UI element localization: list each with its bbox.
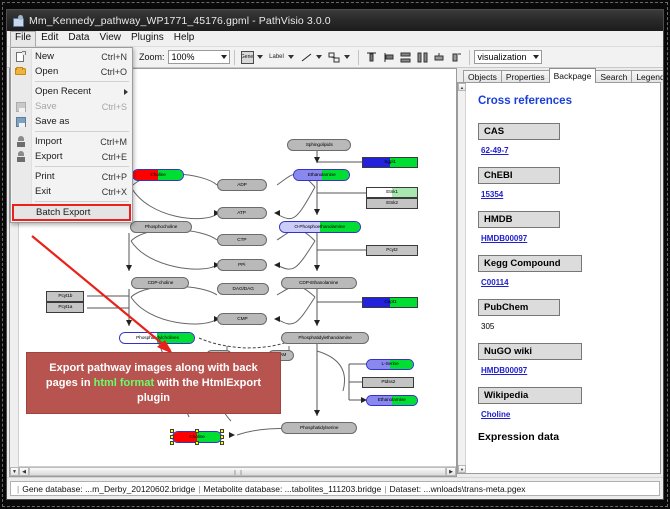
pathway-node-pcyt1a[interactable]: Pcyt1a bbox=[46, 302, 84, 313]
desktop-background: Mm_Kennedy_pathway_WP1771_45176.gpml - P… bbox=[0, 0, 670, 509]
menu-help[interactable]: Help bbox=[169, 31, 200, 46]
selection-handle[interactable] bbox=[170, 441, 174, 445]
align-left-button[interactable] bbox=[381, 50, 396, 65]
menu-data[interactable]: Data bbox=[63, 31, 94, 46]
cross-reference-value-row: HMDB00097 bbox=[478, 360, 650, 378]
backpage-vertical-scrollbar[interactable]: ▲ ▼ bbox=[458, 83, 466, 473]
visualization-combo[interactable]: visualization bbox=[474, 50, 542, 64]
cross-reference-value-row: Choline bbox=[478, 404, 650, 422]
panel-scroll-down-icon[interactable]: ▼ bbox=[458, 465, 466, 473]
scroll-left-icon[interactable]: ◀ bbox=[19, 467, 29, 476]
cross-reference-block: Kegg CompoundC00114 bbox=[478, 255, 650, 290]
status-gene-database: Gene database: ...m_Derby_20120602.bridg… bbox=[22, 484, 195, 494]
menu-item-exit[interactable]: ExitCtrl+X bbox=[11, 184, 132, 199]
pathway-node-cept1[interactable]: Cept1 bbox=[362, 297, 418, 308]
menu-item-shortcut: Ctrl+X bbox=[102, 187, 127, 197]
node-label: Cept1 bbox=[384, 300, 396, 305]
cross-reference-block: PubChem305 bbox=[478, 299, 650, 334]
align-left-icon bbox=[381, 50, 396, 65]
align-top-icon bbox=[364, 50, 379, 65]
cross-reference-value-row: 305 bbox=[478, 316, 650, 334]
node-label: Etnk2 bbox=[386, 201, 398, 206]
cross-reference-value-row: 15354 bbox=[478, 184, 650, 202]
menu-divider bbox=[35, 201, 129, 202]
statusbar-content: | Gene database: ...m_Derby_20120602.bri… bbox=[10, 481, 660, 496]
menu-item-label: Exit bbox=[35, 186, 102, 197]
side-panel: Objects Properties Backpage Search Legen… bbox=[457, 68, 661, 477]
cross-reference-link[interactable]: 15354 bbox=[481, 190, 503, 199]
pathway-node-choline-top[interactable]: Choline bbox=[132, 169, 184, 181]
pathway-node-ethanolamine-mid[interactable]: Ethanolamine bbox=[366, 395, 418, 406]
menu-item-shortcut: Ctrl+O bbox=[101, 67, 127, 77]
menu-item-import[interactable]: ImportCtrl+M bbox=[11, 134, 132, 149]
same-width-icon bbox=[432, 50, 447, 65]
selection-handle[interactable] bbox=[220, 435, 224, 439]
cross-reference-value-row: 62-49-7 bbox=[478, 140, 650, 158]
node-label: Ptdss2 bbox=[381, 380, 395, 385]
menu-item-label: Export bbox=[35, 151, 102, 162]
menu-divider bbox=[35, 131, 129, 132]
cross-reference-db-name: ChEBI bbox=[478, 167, 560, 184]
menu-item-label: Open Recent bbox=[35, 86, 127, 97]
cross-reference-link[interactable]: 62-49-7 bbox=[481, 146, 509, 155]
status-sep-0: | bbox=[17, 484, 19, 494]
distribute-horizontal-button[interactable] bbox=[415, 50, 430, 65]
node-label: Choline bbox=[189, 435, 204, 440]
node-label: Pcyt2 bbox=[386, 248, 397, 253]
menu-item-open-recent[interactable]: Open Recent bbox=[11, 84, 132, 99]
pathway-node-ppi[interactable]: PPi bbox=[217, 259, 267, 271]
pathway-node-phosphatidylserine[interactable]: Phosphatidylserine bbox=[281, 422, 357, 434]
chevron-down-icon-2 bbox=[533, 55, 539, 59]
cross-reference-block: NuGO wikiHMDB00097 bbox=[478, 343, 650, 378]
node-label: Phosphatidylcholines bbox=[136, 336, 179, 341]
node-label: ATP bbox=[238, 211, 247, 216]
import-icon bbox=[15, 136, 27, 148]
menubar: File Edit Data View Plugins Help bbox=[7, 31, 663, 47]
pathvisio-icon bbox=[12, 15, 24, 27]
menu-item-label: Print bbox=[35, 171, 102, 182]
node-label: Choline bbox=[150, 173, 165, 178]
gene-product-icon: Gene bbox=[241, 51, 254, 64]
node-label: Ethanolamine bbox=[308, 173, 336, 178]
pathway-node-o-phosphoethanolamine[interactable]: O-Phosphoethanolamine bbox=[279, 221, 361, 233]
pathway-node-etnk1[interactable]: Etnk1 bbox=[366, 187, 418, 198]
zoom-combo[interactable]: 100% bbox=[168, 50, 230, 64]
menu-item-label: New bbox=[35, 51, 101, 62]
visualization-value: visualization bbox=[478, 52, 527, 62]
hscroll-thumb[interactable] bbox=[29, 467, 446, 476]
status-sep-2: | bbox=[384, 484, 386, 494]
tab-backpage[interactable]: Backpage bbox=[549, 68, 597, 83]
menu-item-label: Import bbox=[35, 136, 100, 147]
menu-item-batch-export[interactable]: Batch Export bbox=[12, 204, 131, 221]
pathway-node-phosphatidylethanolamine[interactable]: Phosphatidylethanolamine bbox=[281, 332, 369, 344]
menu-item-open[interactable]: OpenCtrl+O bbox=[11, 64, 132, 79]
pathway-node-sgpl1[interactable]: Sgpl1 bbox=[362, 157, 418, 168]
node-label: Sphingolipids bbox=[305, 143, 332, 148]
pathway-node-cmp[interactable]: CMP bbox=[217, 313, 267, 325]
selection-handle[interactable] bbox=[170, 429, 174, 433]
menu-item-save: SaveCtrl+S bbox=[11, 99, 132, 114]
menu-item-shortcut: Ctrl+N bbox=[101, 52, 127, 62]
save-disk-icon bbox=[15, 101, 27, 113]
cross-reference-link[interactable]: HMDB00097 bbox=[481, 234, 527, 243]
distribute-vertical-icon bbox=[398, 50, 413, 65]
cross-reference-db-name: Kegg Compound bbox=[478, 255, 582, 272]
node-label: L-Serine bbox=[381, 362, 398, 367]
cross-reference-value-row: C00114 bbox=[478, 272, 650, 290]
scroll-right-icon[interactable]: ▶ bbox=[446, 467, 456, 476]
canvas-horizontal-scrollbar[interactable]: ◀ ▶ bbox=[19, 466, 456, 476]
pathway-node-cdp-choline[interactable]: CDP-choline bbox=[131, 277, 189, 289]
pathway-node-pcyt1b[interactable]: Pcyt1b bbox=[46, 291, 84, 302]
gene-product-dropdown-icon[interactable] bbox=[257, 55, 263, 59]
menu-divider bbox=[35, 81, 129, 82]
menu-item-new[interactable]: NewCtrl+N bbox=[11, 49, 132, 64]
menu-item-shortcut: Ctrl+E bbox=[102, 152, 127, 162]
label-icon: Label bbox=[268, 50, 286, 65]
line-dropdown-icon[interactable] bbox=[316, 55, 322, 59]
side-panel-tabstrip: Objects Properties Backpage Search Legen… bbox=[463, 68, 661, 83]
menu-plugins[interactable]: Plugins bbox=[126, 31, 169, 46]
menu-item-export[interactable]: ExportCtrl+E bbox=[11, 149, 132, 164]
node-label: O-Phosphoethanolamine bbox=[295, 225, 346, 230]
export-icon bbox=[15, 151, 27, 163]
line-tool-button[interactable] bbox=[299, 50, 314, 65]
node-label: ADP bbox=[237, 183, 246, 188]
submenu-chevron-icon bbox=[124, 89, 128, 95]
node-label: Phosphatidylethanolamine bbox=[298, 336, 351, 341]
selection-handle[interactable] bbox=[220, 441, 224, 445]
chevron-down-icon bbox=[221, 55, 227, 59]
node-label: CDP-choline bbox=[147, 281, 173, 286]
toolbar-divider bbox=[234, 50, 235, 65]
cross-reference-link[interactable]: HMDB00097 bbox=[481, 366, 527, 375]
pathway-node-dag-dag[interactable]: DAG/DAG bbox=[217, 283, 269, 295]
menu-file[interactable]: File bbox=[10, 31, 36, 47]
cross-reference-db-name: HMDB bbox=[478, 211, 560, 228]
distribute-vertical-button[interactable] bbox=[398, 50, 413, 65]
menu-item-label: Open bbox=[35, 66, 101, 77]
label-dropdown-icon[interactable] bbox=[288, 55, 294, 59]
node-label: Phosphocholine bbox=[145, 225, 177, 230]
node-label: Phosphatidylserine bbox=[300, 426, 338, 431]
label-tool-button[interactable]: Label bbox=[268, 50, 286, 65]
node-label: CMP bbox=[237, 317, 247, 322]
status-sep-1: | bbox=[198, 484, 200, 494]
new-document-icon bbox=[15, 51, 27, 63]
node-label: PPi bbox=[238, 263, 245, 268]
menu-edit[interactable]: Edit bbox=[36, 31, 63, 46]
cross-reference-value-row: HMDB00097 bbox=[478, 228, 650, 246]
pathway-node-pcyt2[interactable]: Pcyt2 bbox=[366, 245, 418, 256]
pathway-node-adp[interactable]: ADP bbox=[217, 179, 267, 191]
expression-data-title: Expression data bbox=[478, 431, 650, 443]
same-height-icon bbox=[449, 50, 464, 65]
interaction-icon bbox=[327, 50, 342, 65]
cross-reference-block: CAS62-49-7 bbox=[478, 123, 650, 158]
backpage-content: Cross references CAS62-49-7ChEBI15354HMD… bbox=[466, 83, 660, 473]
toolbar-divider-3 bbox=[469, 50, 470, 65]
file-dropdown-menu: NewCtrl+NOpenCtrl+OOpen RecentSaveCtrl+S… bbox=[10, 47, 133, 223]
gene-product-tool-button[interactable]: Gene bbox=[240, 50, 255, 65]
cross-reference-db-name: PubChem bbox=[478, 299, 560, 316]
annotation-callout: Export pathway images along with back pa… bbox=[26, 352, 281, 414]
same-width-button[interactable] bbox=[432, 50, 447, 65]
annotation-text: Export pathway images along with back pa… bbox=[33, 361, 274, 406]
menu-divider bbox=[35, 166, 129, 167]
folder-open-icon bbox=[15, 66, 27, 78]
cross-references-list: CAS62-49-7ChEBI15354HMDBHMDB00097Kegg Co… bbox=[478, 123, 650, 422]
selection-handle[interactable] bbox=[170, 435, 174, 439]
selection-handle[interactable] bbox=[195, 429, 199, 433]
line-icon bbox=[299, 50, 314, 65]
cross-reference-link[interactable]: Choline bbox=[481, 410, 510, 419]
node-label: Pcyt1b bbox=[58, 294, 72, 299]
selection-handle[interactable] bbox=[220, 429, 224, 433]
menu-view[interactable]: View bbox=[94, 31, 126, 46]
file-menu-items: NewCtrl+NOpenCtrl+OOpen RecentSaveCtrl+S… bbox=[11, 49, 132, 221]
cross-reference-db-name: CAS bbox=[478, 123, 560, 140]
menu-item-label: Batch Export bbox=[36, 207, 124, 218]
interaction-tool-button[interactable] bbox=[327, 50, 342, 65]
menu-item-label: Save as bbox=[35, 116, 127, 127]
pathway-node-etnk2[interactable]: Etnk2 bbox=[366, 198, 418, 209]
cross-reference-block: HMDBHMDB00097 bbox=[478, 211, 650, 246]
save-as-icon bbox=[15, 116, 27, 128]
pathway-node-cdp-ethanolamine[interactable]: CDP-Ethanolamine bbox=[281, 277, 357, 289]
panel-scroll-up-icon[interactable]: ▲ bbox=[458, 83, 466, 91]
selection-handle[interactable] bbox=[195, 441, 199, 445]
pathway-node-atp[interactable]: ATP bbox=[217, 207, 267, 219]
distribute-horizontal-icon bbox=[415, 50, 430, 65]
statusbar: | Gene database: ...m_Derby_20120602.bri… bbox=[7, 477, 663, 499]
cross-reference-db-name: NuGO wiki bbox=[478, 343, 582, 360]
zoom-value: 100% bbox=[172, 52, 195, 62]
node-label: CDP-Ethanolamine bbox=[299, 281, 338, 286]
node-label: Pcyt1a bbox=[58, 305, 72, 310]
interaction-dropdown-icon[interactable] bbox=[344, 55, 350, 59]
window-title: Mm_Kennedy_pathway_WP1771_45176.gpml - P… bbox=[29, 15, 331, 27]
status-dataset: Dataset: ...wnloads\trans-meta.pgex bbox=[389, 484, 525, 494]
cross-references-title: Cross references bbox=[478, 95, 650, 107]
node-label: DAG/DAG bbox=[232, 287, 253, 292]
zoom-label: Zoom: bbox=[139, 52, 165, 62]
cross-reference-block: ChEBI15354 bbox=[478, 167, 650, 202]
window-titlebar: Mm_Kennedy_pathway_WP1771_45176.gpml - P… bbox=[7, 10, 663, 31]
cross-reference-block: WikipediaCholine bbox=[478, 387, 650, 422]
pathway-node-phosphatidylcholines[interactable]: Phosphatidylcholines bbox=[119, 332, 195, 344]
pathway-node-ctp[interactable]: CTP bbox=[217, 234, 267, 246]
cross-reference-link[interactable]: C00114 bbox=[481, 278, 509, 287]
menu-item-print[interactable]: PrintCtrl+P bbox=[11, 169, 132, 184]
scroll-down-icon[interactable]: ▼ bbox=[10, 467, 19, 476]
node-label: Sgpl1 bbox=[384, 160, 396, 165]
menu-item-save-as[interactable]: Save as bbox=[11, 114, 132, 129]
menu-item-shortcut: Ctrl+P bbox=[102, 172, 127, 182]
status-metabolite-database: Metabolite database: ...tabolites_111203… bbox=[203, 484, 381, 494]
pathway-node-sphingolipids[interactable]: Sphingolipids bbox=[287, 139, 351, 151]
menu-item-shortcut: Ctrl+M bbox=[100, 137, 127, 147]
pathway-node-phosphocholine[interactable]: Phosphocholine bbox=[130, 221, 192, 233]
pathvisio-window: Mm_Kennedy_pathway_WP1771_45176.gpml - P… bbox=[6, 9, 664, 500]
cross-reference-value: 305 bbox=[481, 322, 494, 331]
align-top-button[interactable] bbox=[364, 50, 379, 65]
backpage-panel: ▲ ▼ Cross references CAS62-49-7ChEBI1535… bbox=[457, 82, 661, 474]
menu-item-label: Save bbox=[35, 101, 102, 112]
node-label: Ethanolamine bbox=[378, 398, 406, 403]
pathway-node-l-serine[interactable]: L-Serine bbox=[366, 359, 414, 370]
annotation-highlight: html format bbox=[94, 377, 155, 389]
toolbar-divider-2 bbox=[358, 50, 359, 65]
node-label: Etnk1 bbox=[386, 190, 398, 195]
same-height-button[interactable] bbox=[449, 50, 464, 65]
menu-item-shortcut: Ctrl+S bbox=[102, 102, 127, 112]
node-label: CTP bbox=[237, 238, 246, 243]
pathway-node-ptdss2[interactable]: Ptdss2 bbox=[362, 377, 414, 388]
pathway-node-ethanolamine-top[interactable]: Ethanolamine bbox=[293, 169, 350, 181]
cross-reference-db-name: Wikipedia bbox=[478, 387, 582, 404]
